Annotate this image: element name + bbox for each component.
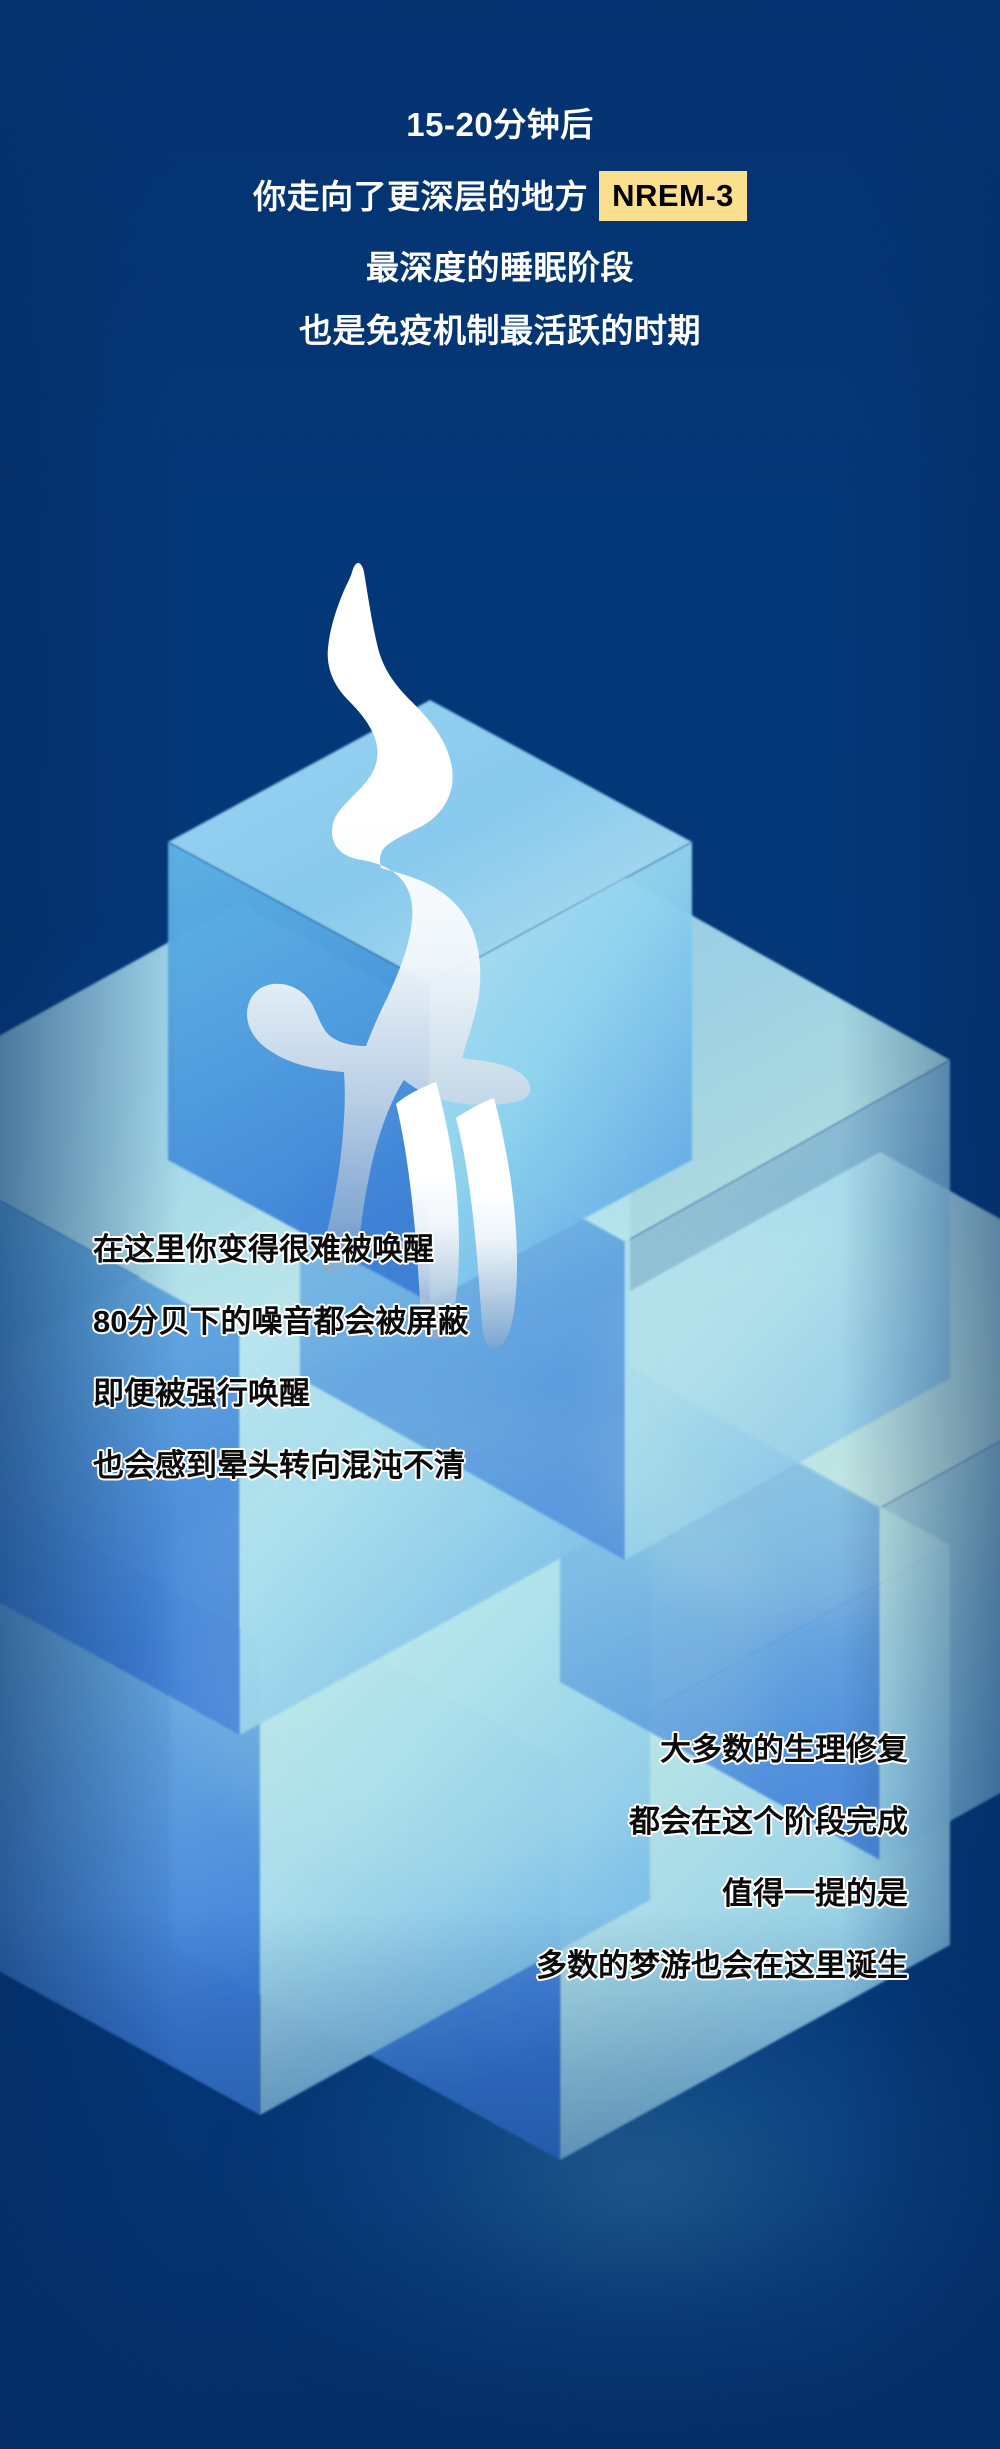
- middle-line-2: 80分贝下的噪音都会被屏蔽: [93, 1306, 468, 1337]
- bottom-line-2: 都会在这个阶段完成: [536, 1806, 908, 1837]
- header-line-3: 最深度的睡眠阶段: [0, 251, 1000, 284]
- bottom-line-1: 大多数的生理修复: [536, 1734, 908, 1765]
- header-line-2-row: 你走向了更深层的地方 NREM-3: [0, 171, 1000, 221]
- bottom-text-block: 大多数的生理修复 都会在这个阶段完成 值得一提的是 多数的梦游也会在这里诞生: [536, 1734, 908, 1981]
- header-line-1: 15-20分钟后: [0, 108, 1000, 141]
- middle-line-1: 在这里你变得很难被唤醒: [93, 1234, 468, 1265]
- bottom-line-4: 多数的梦游也会在这里诞生: [536, 1950, 908, 1981]
- infographic-poster: 15-20分钟后 你走向了更深层的地方 NREM-3 最深度的睡眠阶段 也是免疫…: [0, 0, 1000, 2449]
- middle-text-block: 在这里你变得很难被唤醒 80分贝下的噪音都会被屏蔽 即便被强行唤醒 也会感到晕头…: [93, 1234, 468, 1481]
- middle-line-4: 也会感到晕头转向混沌不清: [93, 1450, 468, 1481]
- header-text-block: 15-20分钟后 你走向了更深层的地方 NREM-3 最深度的睡眠阶段 也是免疫…: [0, 108, 1000, 347]
- header-line-2-text: 你走向了更深层的地方: [253, 180, 588, 213]
- nrem3-badge: NREM-3: [599, 171, 747, 221]
- bottom-line-3: 值得一提的是: [536, 1878, 908, 1909]
- header-line-4: 也是免疫机制最活跃的时期: [0, 314, 1000, 347]
- middle-line-3: 即便被强行唤醒: [93, 1378, 468, 1409]
